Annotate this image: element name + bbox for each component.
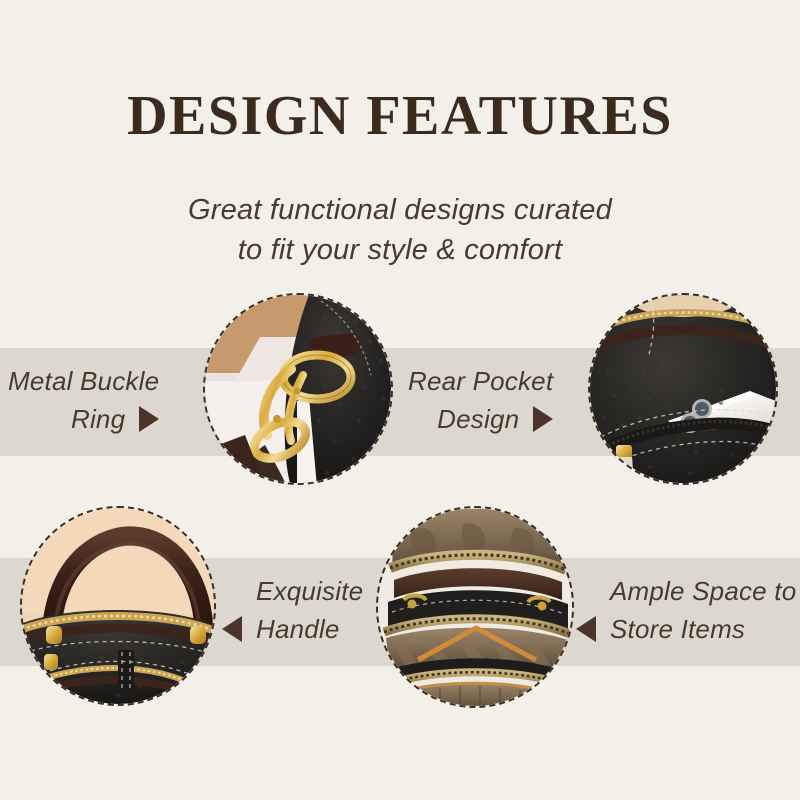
photo-gold-snap-hook [205, 295, 391, 483]
feature-label-line-2: Handle [256, 610, 340, 648]
feature-photo-rear-pocket-design [588, 293, 778, 485]
feature-photo-metal-buckle-ring [203, 293, 393, 485]
feature-label-line-1: Exquisite [256, 572, 363, 610]
feature-label-metal-buckle-ring: Metal Buckle Ring [8, 362, 159, 438]
photo-bag-interior-compartments [378, 508, 572, 706]
page-title: DESIGN FEATURES [0, 88, 800, 144]
arrow-left-icon [222, 616, 242, 642]
feature-label-line-1: Rear Pocket [408, 362, 553, 400]
feature-label-ample-space-to-store-items: Ample Space to Store Items [576, 572, 796, 648]
subtitle-line-2: to fit your style & comfort [0, 230, 800, 270]
arrow-right-icon [533, 406, 553, 432]
arrow-left-icon [576, 616, 596, 642]
feature-label-line-1: Metal Buckle [8, 362, 159, 400]
photo-top-handle [22, 508, 214, 704]
feature-photo-exquisite-handle [20, 506, 216, 706]
feature-label-rear-pocket-design: Rear Pocket Design [408, 362, 553, 438]
page-subtitle: Great functional designs curated to fit … [0, 190, 800, 270]
feature-photo-ample-space-to-store-items [376, 506, 574, 708]
feature-label-line-2: Design [437, 400, 519, 438]
feature-label-line-1: Ample Space to [610, 572, 796, 610]
feature-label-line-2: Ring [71, 400, 125, 438]
feature-label-line-2: Store Items [610, 610, 745, 648]
subtitle-line-1: Great functional designs curated [0, 190, 800, 230]
design-features-infographic: DESIGN FEATURES Great functional designs… [0, 0, 800, 800]
photo-phone-in-rear-pocket [590, 295, 776, 483]
feature-label-exquisite-handle: Exquisite Handle [222, 572, 363, 648]
arrow-right-icon [139, 406, 159, 432]
